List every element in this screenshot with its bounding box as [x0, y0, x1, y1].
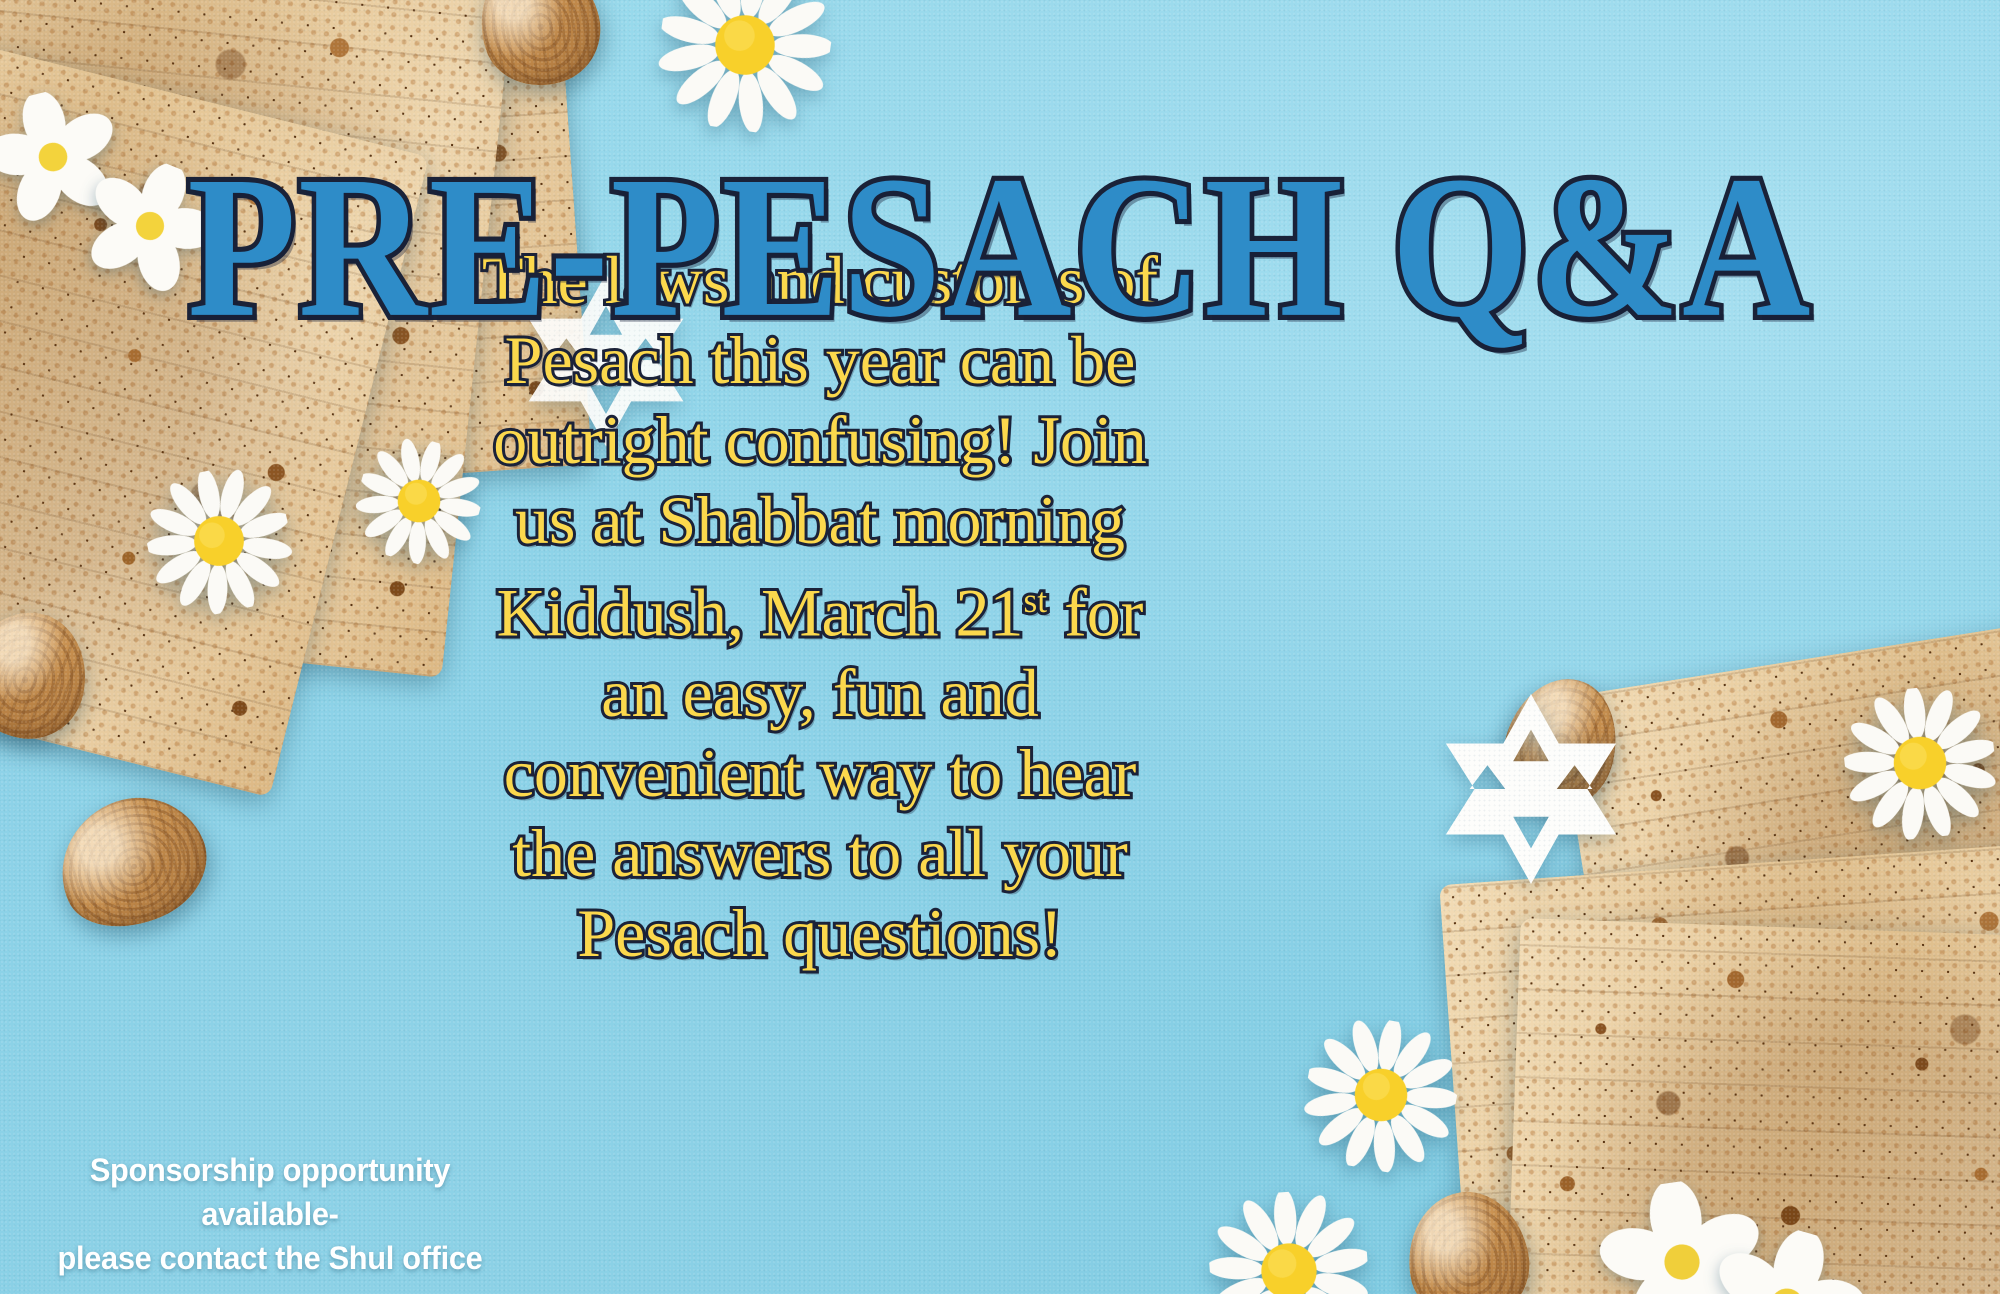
body-line-3: outright confusing! Join — [450, 400, 1190, 480]
daisy-flower-top-center — [649, 0, 841, 141]
sponsorship-line-2: please contact the Shul office — [20, 1236, 519, 1280]
body-line-6: an easy, fun and — [450, 653, 1190, 733]
body-line-7: convenient way to hear — [450, 733, 1190, 813]
page-title: PRE-PESACH Q&A — [0, 145, 2000, 348]
sponsorship-line-1: Sponsorship opportunity available- — [20, 1148, 519, 1236]
date-suffix: for — [1047, 575, 1143, 651]
sponsorship-note: Sponsorship opportunity available- pleas… — [20, 1148, 519, 1280]
daisy-flower-mid-left — [135, 457, 303, 625]
title-text: PRE-PESACH Q&A — [187, 134, 1812, 360]
date-prefix: Kiddush, March 21 — [497, 575, 1024, 651]
poster-canvas: PRE-PESACH Q&A The laws and customs of P… — [0, 0, 2000, 1294]
daisy-flower-bottom-center — [1205, 1187, 1374, 1294]
star-of-david-center-right — [1432, 690, 1630, 888]
daisy-flower-right — [1838, 681, 2000, 846]
walnut-left-lower — [39, 775, 225, 948]
body-line-8: the answers to all your — [450, 813, 1190, 893]
date-ordinal-suffix: st — [1024, 580, 1048, 620]
daisy-flower-mid-right — [1294, 1008, 1468, 1182]
body-line-5-date: Kiddush, March 21st for — [450, 560, 1190, 653]
body-line-9: Pesach questions! — [450, 893, 1190, 973]
body-line-4: us at Shabbat morning — [450, 480, 1190, 560]
